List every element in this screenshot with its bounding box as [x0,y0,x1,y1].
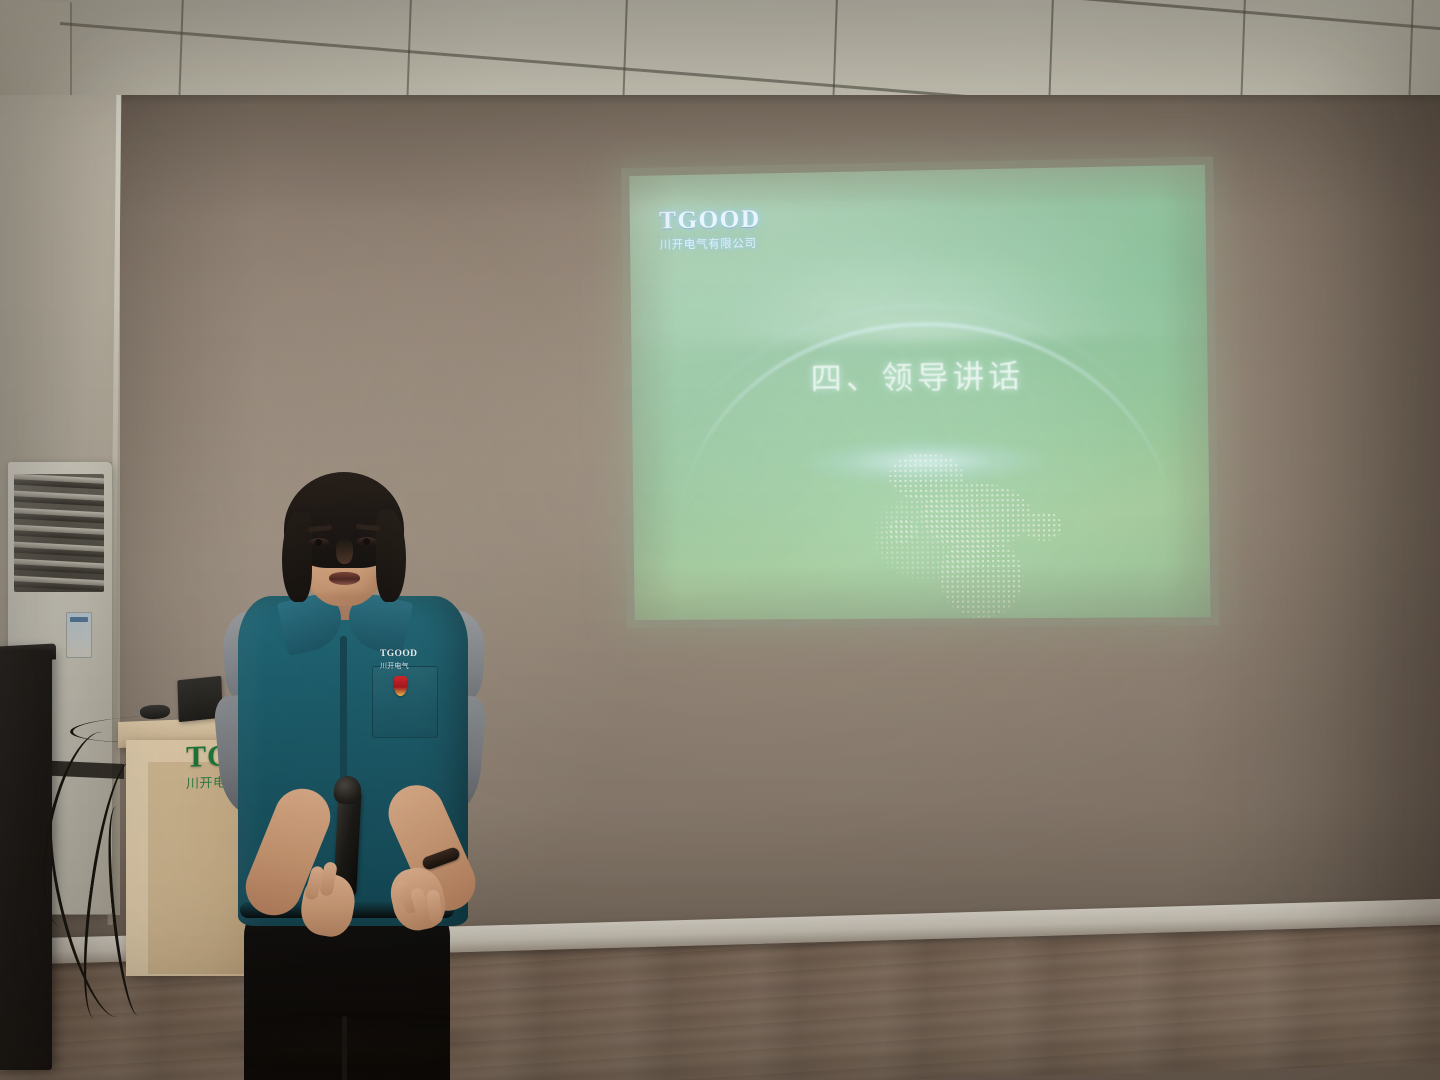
chest-wordmark: TGOOD [380,650,438,660]
uniform-badge-pin [394,676,407,696]
presenter: TGOOD 川开电气 [196,470,496,1080]
projection-screen: TGOOD 川开电气有限公司 四、领导讲话 [629,165,1210,620]
chin-shading [312,588,374,606]
nose [336,538,353,564]
uniform-chest-logo: TGOOD 川开电气 [380,650,438,671]
hair-side-left [282,512,312,602]
eye-right [357,537,377,546]
projected-slide: TGOOD 川开电气有限公司 四、领导讲话 [629,165,1210,620]
presenter-floor-shadow [180,1022,510,1062]
chest-company-name: 川开电气 [380,661,438,671]
mouth [329,572,360,585]
eye-left [309,538,329,547]
slide-edge-haze [629,165,1210,620]
microphone-head [333,775,361,804]
conference-room-photo: TGOOD 川开电气有限公司 四、领导讲话 TG 川开电气 [0,0,1440,1080]
